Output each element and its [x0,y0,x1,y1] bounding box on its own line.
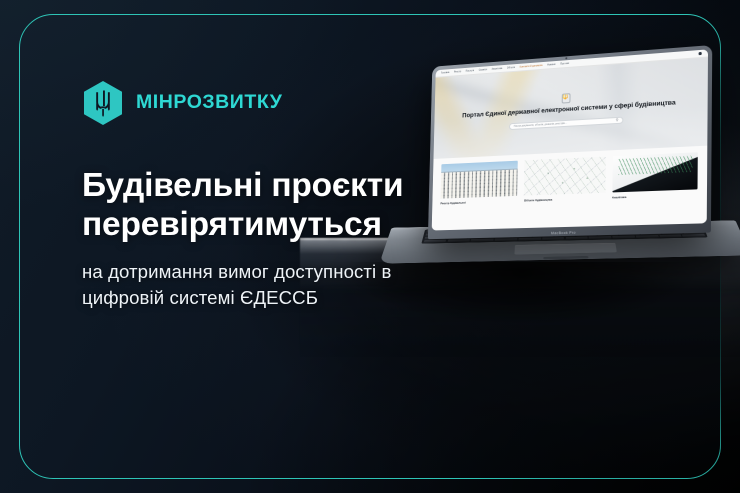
page-subtitle: на дотримання вимог доступності в цифров… [82,259,442,310]
nav-item-about[interactable]: Про нас [560,62,569,65]
portal-card[interactable]: Реєстр будівельної [440,161,518,206]
nav-item-tools[interactable]: Сервіси [479,69,487,72]
analytics-chart-thumbnail [612,152,698,192]
ukraine-trident-hexagon-icon [82,80,124,126]
search-input[interactable]: Пошук документів, об'єктів, дозволів, ре… [514,122,567,128]
search-icon[interactable]: ⚲ [616,119,619,123]
menu-dot-icon[interactable] [699,52,702,55]
nav-item-services[interactable]: Послуги [466,70,475,73]
laptop-mockup: Головна Реєстр Послуги Сервіси Аналітика… [390,52,739,356]
laptop-lid: Головна Реєстр Послуги Сервіси Аналітика… [428,45,712,239]
nav-item-objects[interactable]: Об'єкти [507,67,515,70]
map-thumbnail [524,157,605,196]
promo-banner: Головна Реєстр Послуги Сервіси Аналітика… [0,0,740,493]
nav-item-news[interactable]: Новини [547,63,555,66]
laptop-front-notch [544,256,589,259]
key [612,235,635,238]
key [636,235,659,238]
nav-item-home[interactable]: Головна [441,72,449,75]
brand-lockup: МІНРОЗВИТКУ [82,82,442,124]
laptop-trackpad [514,243,617,255]
nav-item-contacts-help[interactable]: Контакти й допомога [520,64,543,68]
key [471,238,494,241]
portal-search-bar[interactable]: Пошук документів, об'єктів, дозволів, ре… [509,117,623,131]
key [447,239,470,242]
portal-card[interactable]: Об'єкти будівництва [524,157,606,203]
banner-content: МІНРОЗВИТКУ Будівельні проєкти перевірят… [82,82,442,311]
portal-card-label: Об'єкти будівництва [524,196,605,203]
state-emblem-icon: 🔱 [561,93,570,103]
key [518,237,540,240]
key [589,236,612,239]
portal-card[interactable]: Аналітика [612,152,698,199]
laptop-screen-bezel: Головна Реєстр Послуги Сервіси Аналітика… [432,49,708,230]
key [495,238,518,241]
key [682,234,705,237]
portal-screen: Головна Реєстр Послуги Сервіси Аналітика… [432,49,708,230]
key [542,237,564,240]
brand-name: МІНРОЗВИТКУ [136,93,282,113]
page-title: Будівельні проєкти перевірятимуться [82,166,442,244]
building-photo-thumbnail [441,161,519,199]
portal-card-label: Реєстр будівельної [440,199,517,206]
portal-card-label: Аналітика [612,192,698,199]
portal-card-row: Реєстр будівельної Об'єкти будівництва А… [432,146,708,231]
key [565,236,587,239]
nav-item-analytics[interactable]: Аналітика [492,68,503,71]
key [659,234,682,237]
nav-item-registry[interactable]: Реєстр [454,71,461,73]
